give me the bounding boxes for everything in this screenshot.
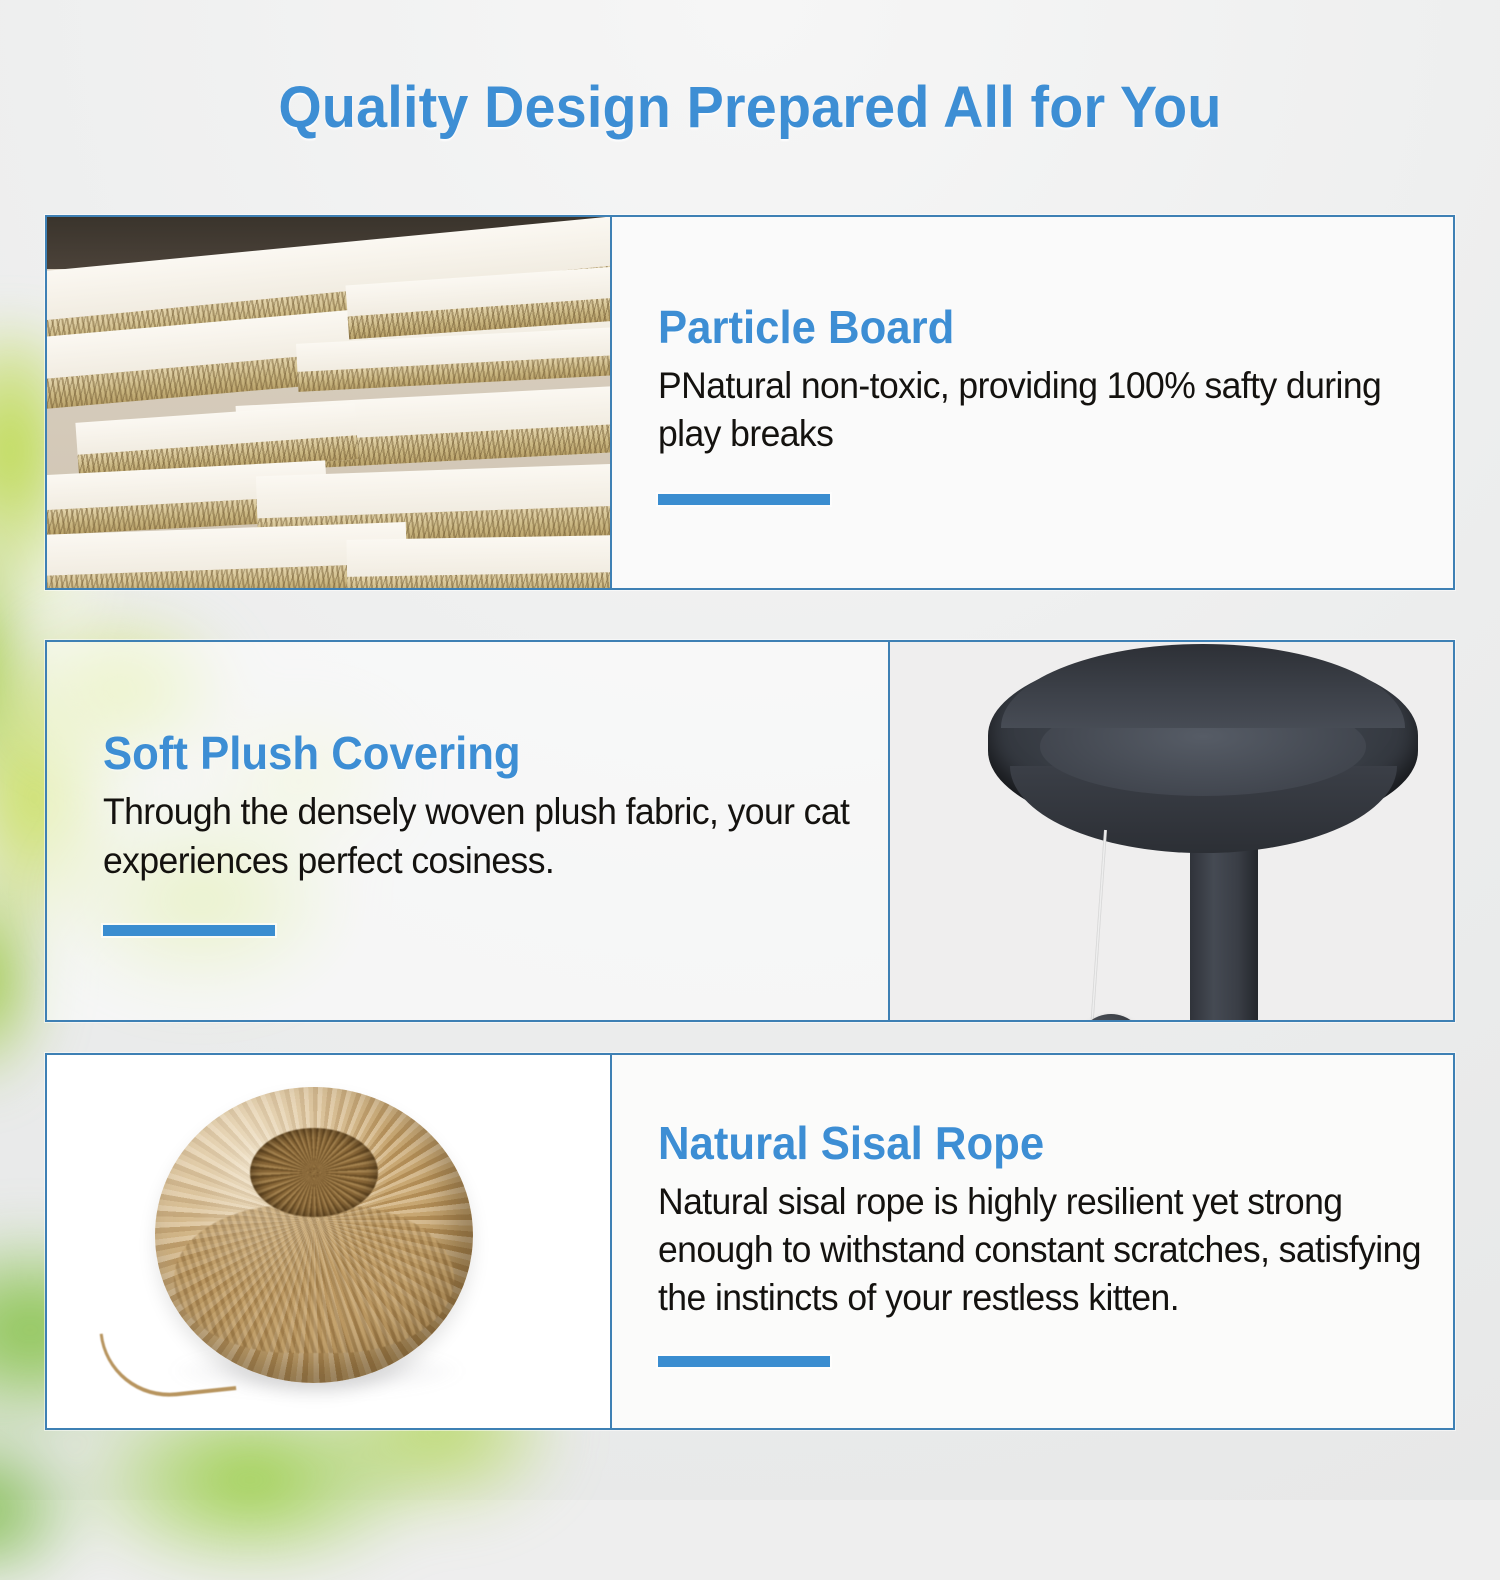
- card-body-text: Through the densely woven plush fabric, …: [103, 788, 857, 884]
- card-heading: Soft Plush Covering: [103, 726, 849, 780]
- card-heading: Natural Sisal Rope: [658, 1116, 1413, 1170]
- card-body-text: Natural sisal rope is highly resilient y…: [658, 1178, 1421, 1322]
- accent-underline-bar: [658, 1356, 830, 1367]
- sisal-rope-ball-photo: [47, 1055, 610, 1428]
- card-body-text: PNatural non-toxic, providing 100% safty…: [658, 362, 1421, 458]
- accent-underline-bar: [103, 925, 275, 936]
- card-text-panel: Natural Sisal Rope Natural sisal rope is…: [610, 1055, 1453, 1428]
- feature-card-particle-board: Particle Board PNatural non-toxic, provi…: [45, 215, 1455, 590]
- feature-card-natural-sisal-rope: Natural Sisal Rope Natural sisal rope is…: [45, 1053, 1455, 1430]
- card-heading: Particle Board: [658, 300, 1413, 354]
- card-text-panel: Particle Board PNatural non-toxic, provi…: [610, 217, 1453, 588]
- page-title: Quality Design Prepared All for You: [30, 74, 1470, 141]
- accent-underline-bar: [658, 494, 830, 505]
- plush-cat-tree-photo: [888, 642, 1453, 1020]
- particle-board-photo: [47, 217, 610, 588]
- card-text-panel: Soft Plush Covering Through the densely …: [47, 642, 888, 1020]
- feature-card-soft-plush-covering: Soft Plush Covering Through the densely …: [45, 640, 1455, 1022]
